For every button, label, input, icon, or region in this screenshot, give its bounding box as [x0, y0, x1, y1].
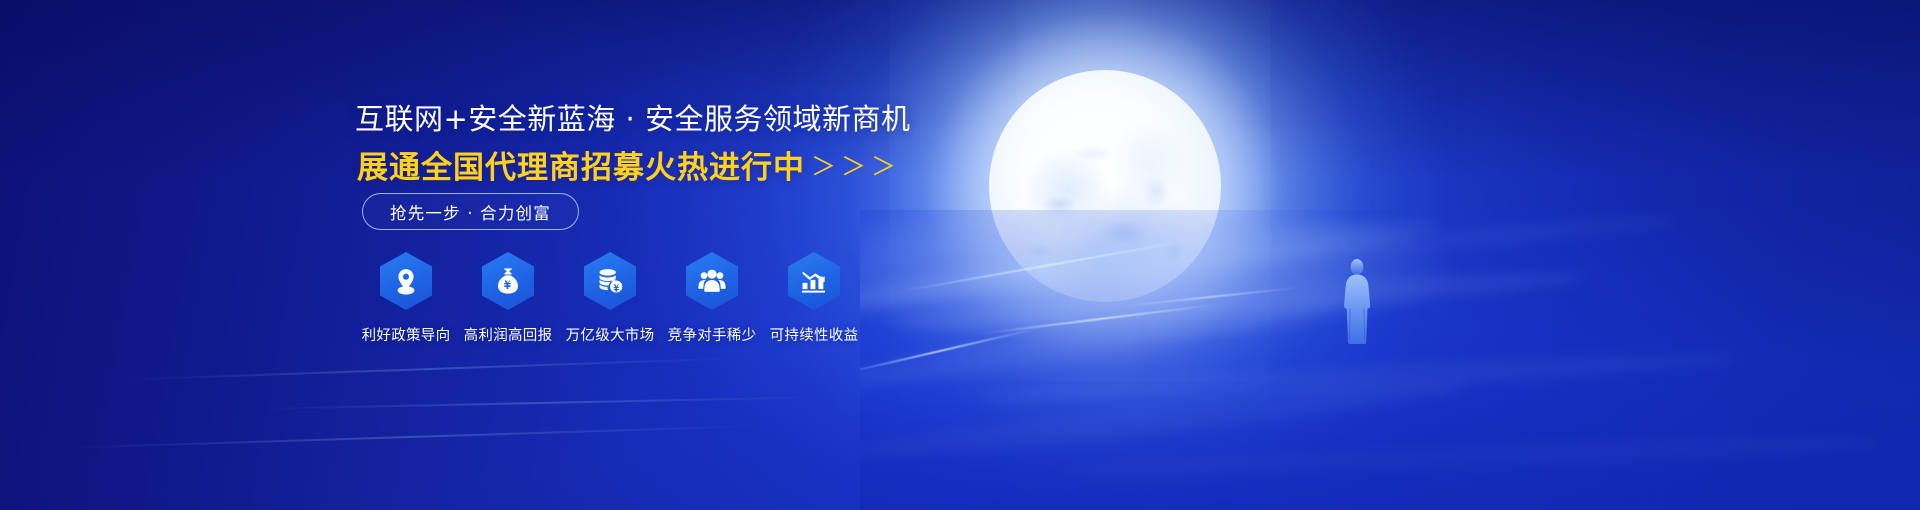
feature-list: 利好政策导向 高利润高回报	[355, 252, 865, 345]
chevron-right-icon: ＞＞＞	[811, 147, 901, 183]
feature-item-profit[interactable]: 高利润高回报	[457, 252, 559, 345]
banner-headline: 互联网+安全新蓝海 · 安全服务领域新商机	[355, 96, 910, 138]
feature-label: 利好政策导向	[362, 324, 451, 345]
banner-subheadline: 展通全国代理商招募火热进行中 ＞＞＞	[357, 142, 901, 187]
tagline-pill-button[interactable]: 抢先一步 · 合力创富	[362, 193, 579, 230]
feature-item-policy[interactable]: 利好政策导向	[355, 252, 457, 345]
feature-item-market[interactable]: 万亿级大市场	[559, 252, 661, 345]
water-surface	[860, 210, 1920, 510]
feature-label: 竞争对手稀少	[668, 324, 757, 345]
feature-label: 高利润高回报	[464, 324, 553, 345]
promo-banner: 互联网+安全新蓝海 · 安全服务领域新商机 展通全国代理商招募火热进行中 ＞＞＞…	[0, 0, 1920, 510]
feature-item-competition[interactable]: 竞争对手稀少	[661, 252, 763, 345]
coin-stack-yuan-icon	[584, 252, 636, 310]
people-group-icon	[686, 252, 738, 310]
feature-label: 可持续性收益	[770, 324, 859, 345]
money-bag-yuan-icon	[482, 252, 534, 310]
location-pin-icon	[380, 252, 432, 310]
bar-chart-growth-icon	[788, 252, 840, 310]
banner-content: 互联网+安全新蓝海 · 安全服务领域新商机 展通全国代理商招募火热进行中 ＞＞＞…	[0, 0, 1000, 510]
feature-label: 万亿级大市场	[566, 324, 655, 345]
subheadline-text: 展通全国代理商招募火热进行中	[357, 142, 805, 187]
feature-item-sustainable[interactable]: 可持续性收益	[763, 252, 865, 345]
person-silhouette-icon	[1337, 258, 1377, 344]
